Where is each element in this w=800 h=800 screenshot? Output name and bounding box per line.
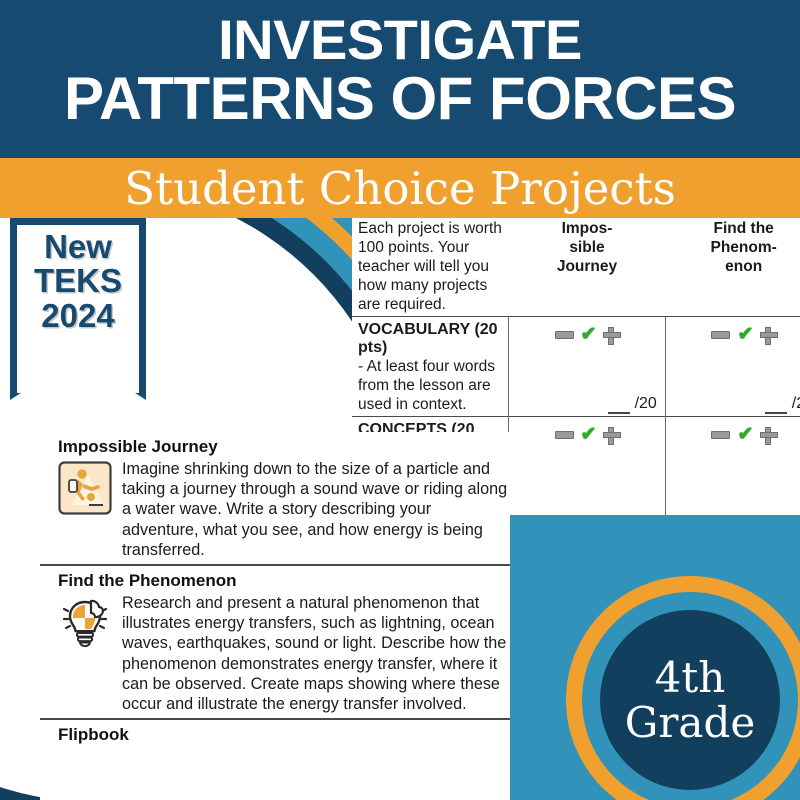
project-item-find-the-phenomenon: Find the Phenomenon Research and present bbox=[40, 564, 510, 718]
mark-group: ✔ bbox=[672, 421, 800, 444]
rubric-column-header-impossible-journey: Impos-sibleJourney bbox=[509, 215, 666, 317]
score-label: /20 bbox=[635, 514, 657, 515]
ribbon-text: New TEKS 2024 bbox=[10, 218, 146, 400]
check-mark-icon[interactable]: ✔ bbox=[737, 325, 753, 344]
ribbon-line-1: New bbox=[44, 230, 112, 264]
subtitle-text: Student Choice Projects bbox=[124, 162, 676, 215]
rubric-header-row: Each project is worth 100 points. Your t… bbox=[352, 215, 800, 317]
rubric-score-cell[interactable]: ✔ /20 bbox=[665, 417, 800, 516]
project-description: Research and present a natural phenomeno… bbox=[122, 593, 510, 714]
grade-level-badge: 4th Grade bbox=[600, 610, 780, 790]
check-mark-icon[interactable]: ✔ bbox=[581, 325, 597, 344]
minus-mark-icon[interactable] bbox=[711, 331, 730, 339]
score-label: /20 bbox=[792, 395, 800, 412]
rubric-score-cell[interactable]: ✔ /20 bbox=[665, 317, 800, 417]
minus-mark-icon[interactable] bbox=[555, 431, 574, 439]
score-blank[interactable]: /20 bbox=[765, 514, 800, 515]
title-line-1: INVESTIGATE bbox=[0, 0, 800, 67]
score-blank[interactable]: /20 bbox=[608, 514, 657, 515]
plus-mark-icon[interactable] bbox=[603, 327, 619, 343]
check-mark-icon[interactable]: ✔ bbox=[581, 425, 597, 444]
projects-document: Impossible Journey Imagine shrinking dow… bbox=[40, 432, 510, 800]
mark-group: ✔ bbox=[515, 421, 659, 444]
new-teks-ribbon-badge: New TEKS 2024 bbox=[10, 218, 146, 400]
minus-mark-icon[interactable] bbox=[711, 431, 730, 439]
project-item-flipbook: Flipbook bbox=[40, 718, 510, 751]
rubric-row: VOCABULARY (20 pts) - At least four word… bbox=[352, 317, 800, 417]
ribbon-line-3: 2024 bbox=[41, 299, 114, 333]
grade-badge-line-2: Grade bbox=[625, 700, 755, 745]
mark-group: ✔ bbox=[672, 321, 800, 344]
ribbon-line-2: TEKS bbox=[34, 264, 122, 298]
plus-mark-icon[interactable] bbox=[760, 427, 776, 443]
criterion-detail: - At least four words from the lesson ar… bbox=[358, 357, 502, 414]
grade-badge-line-1: 4th bbox=[655, 655, 726, 700]
subtitle-banner: Student Choice Projects bbox=[0, 158, 800, 218]
project-description: Imagine shrinking down to the size of a … bbox=[122, 459, 510, 560]
score-blank[interactable]: /20 bbox=[608, 395, 657, 413]
plus-mark-icon[interactable] bbox=[603, 427, 619, 443]
project-body: Research and present a natural phenomeno… bbox=[40, 593, 510, 714]
product-cover: Each project is worth 100 points. Your t… bbox=[0, 0, 800, 800]
hiker-icon bbox=[58, 461, 112, 515]
project-title: Flipbook bbox=[58, 725, 510, 745]
criterion-title: VOCABULARY (20 pts) bbox=[358, 321, 502, 357]
rubric-score-cell[interactable]: ✔ /20 bbox=[509, 417, 666, 516]
page-title: INVESTIGATE PATTERNS OF FORCES bbox=[0, 0, 800, 129]
score-blank[interactable]: /20 bbox=[765, 395, 800, 413]
project-title: Find the Phenomenon bbox=[58, 571, 510, 591]
plus-mark-icon[interactable] bbox=[760, 327, 776, 343]
project-item-impossible-journey: Impossible Journey Imagine shrinking dow… bbox=[40, 432, 510, 564]
rubric-criterion-vocabulary: VOCABULARY (20 pts) - At least four word… bbox=[352, 317, 509, 417]
project-title: Impossible Journey bbox=[58, 437, 510, 457]
minus-mark-icon[interactable] bbox=[555, 331, 574, 339]
rubric-column-header-find-the-phenomenon: Find thePhenom-enon bbox=[665, 215, 800, 317]
header-banner: INVESTIGATE PATTERNS OF FORCES bbox=[0, 0, 800, 158]
mark-group: ✔ bbox=[515, 321, 659, 344]
check-mark-icon[interactable]: ✔ bbox=[737, 425, 753, 444]
project-body: Imagine shrinking down to the size of a … bbox=[40, 459, 510, 560]
rubric-intro-text: Each project is worth 100 points. Your t… bbox=[352, 215, 509, 317]
rubric-score-cell[interactable]: ✔ /20 bbox=[509, 317, 666, 417]
score-label: /20 bbox=[792, 514, 800, 515]
lightbulb-puzzle-icon bbox=[58, 595, 112, 649]
title-line-2: PATTERNS OF FORCES bbox=[0, 67, 800, 128]
score-label: /20 bbox=[635, 395, 657, 412]
